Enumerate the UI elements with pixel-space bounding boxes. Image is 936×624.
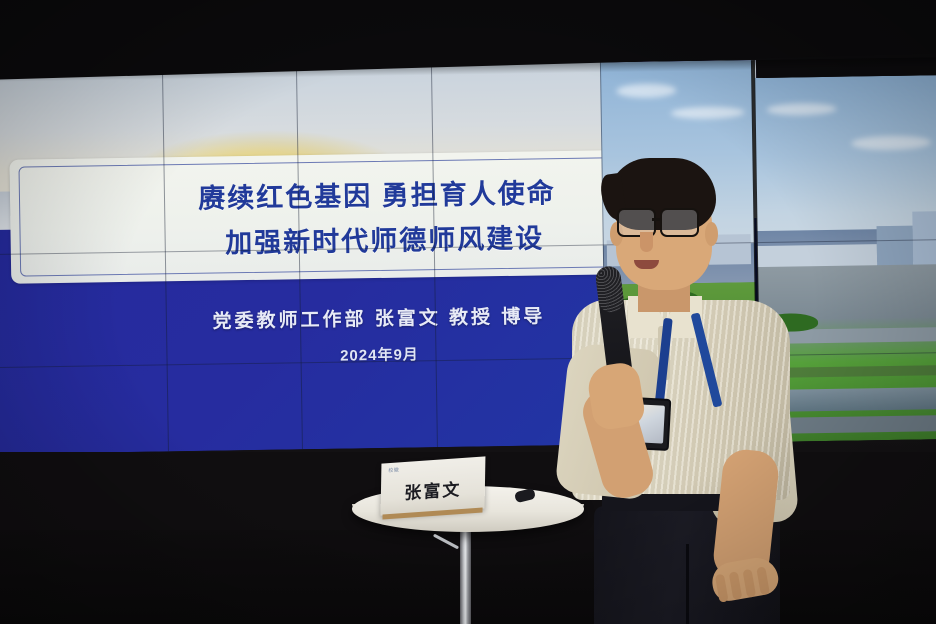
table-pole [460,524,471,624]
slide-title-line2: 加强新时代师德师风建设 [211,216,545,260]
eyeglasses-icon [660,208,699,237]
university-logo: 校徽 [388,466,399,474]
desk-nameplate: 校徽 张富文 [381,456,486,515]
screenshot-root: 赓续红色基因 勇担育人使命 加强新时代师德师风建设 党委教师工作部 张富文 教授… [0,0,936,624]
slide-title-line1: 赓续红色基因 勇担育人使命 [198,171,556,216]
nameplate-name: 张富文 [381,473,485,505]
presenter [566,150,796,624]
